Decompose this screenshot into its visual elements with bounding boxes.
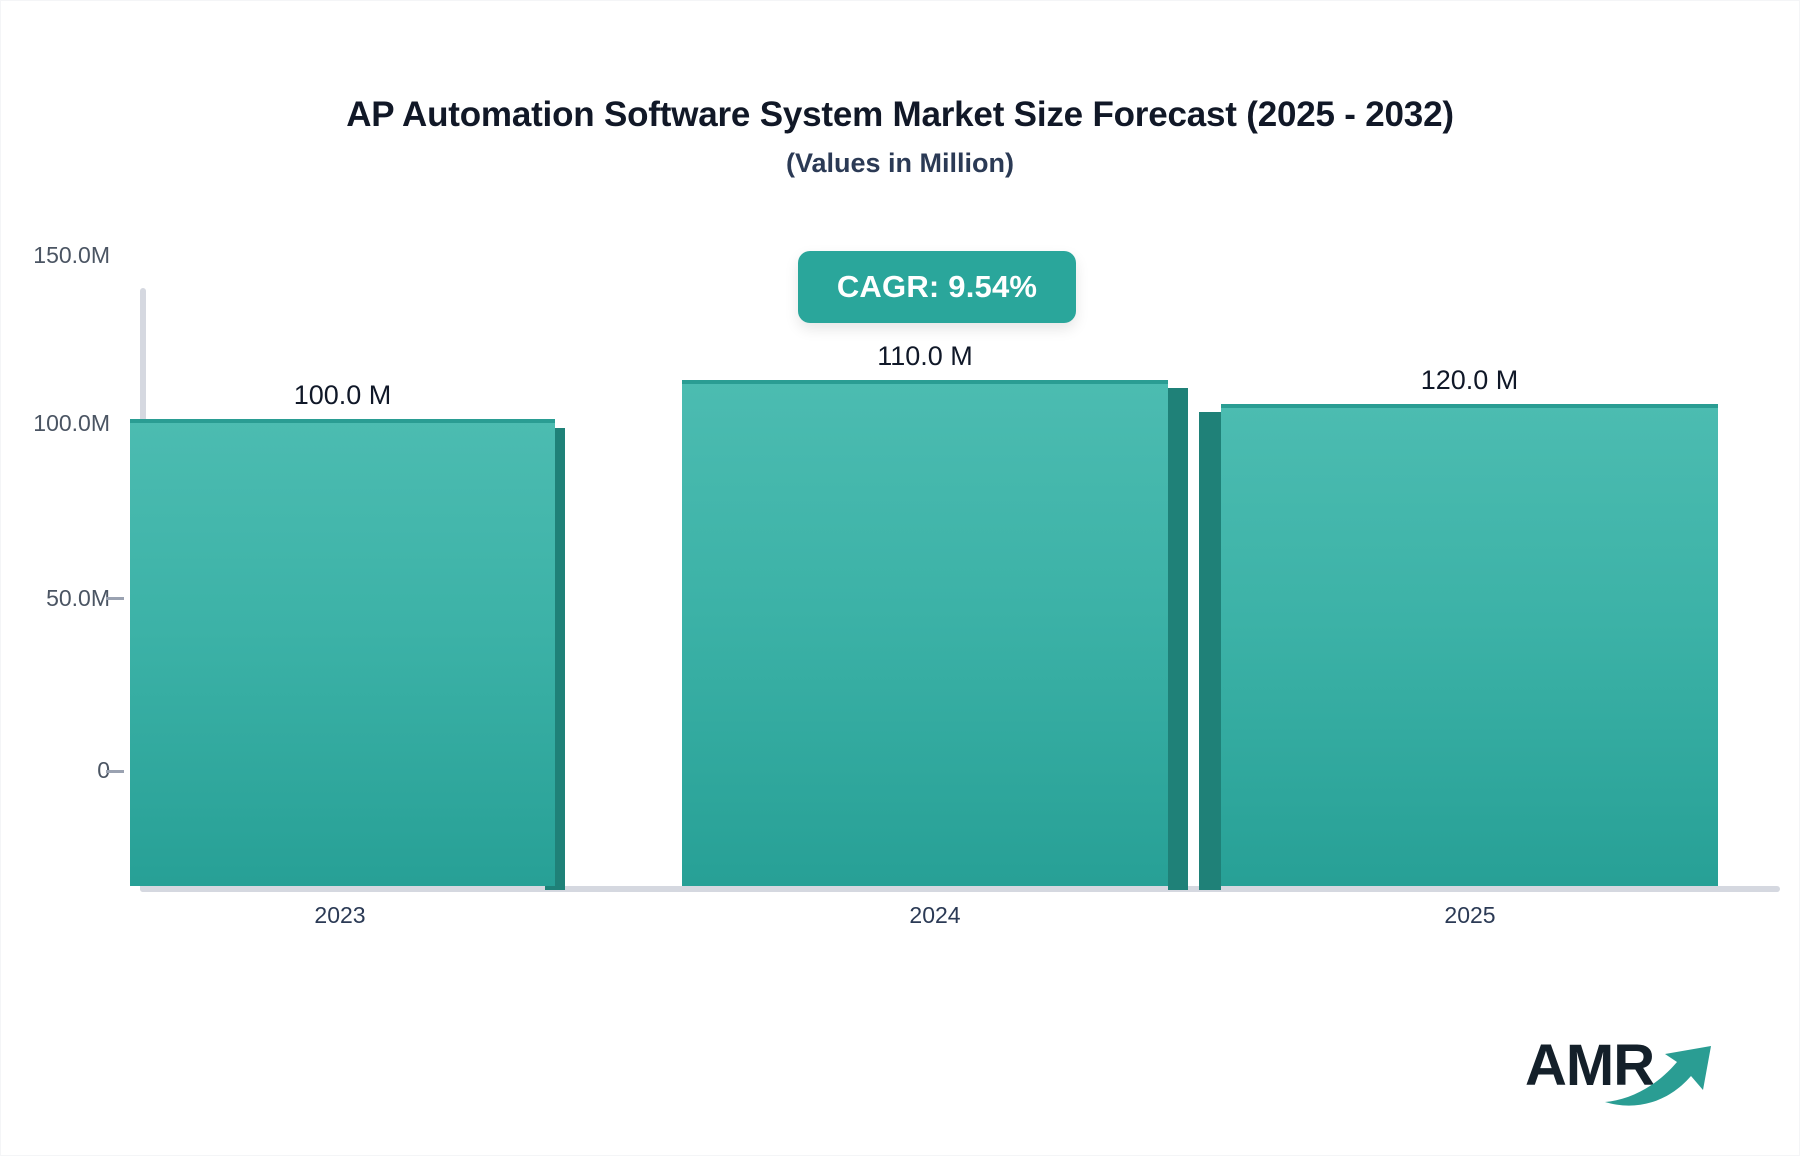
bar-2024-body: [682, 380, 1168, 886]
x-tick-label-2024: 2024: [825, 902, 1045, 929]
y-tick-dash-50: [106, 597, 124, 600]
bar-2023-body: [130, 419, 555, 886]
y-tick-label-150: 150.0M: [0, 242, 110, 269]
bar-2024-top-edge: [682, 380, 1168, 384]
bar-2024-side: [1168, 388, 1188, 890]
bar-value-2023: 100.0 M: [130, 380, 555, 411]
x-tick-label-2023: 2023: [230, 902, 450, 929]
y-tick-label-100: 100.0M: [0, 410, 110, 437]
trending-up-arrow-icon: [1603, 1040, 1723, 1115]
chart-canvas: AP Automation Software System Market Siz…: [0, 0, 1800, 1156]
y-tick-label-50: 50.0M: [0, 585, 110, 612]
bar-value-2025: 120.0 M: [1221, 365, 1718, 396]
bar-2025-top-edge: [1221, 404, 1718, 408]
bar-value-2024: 110.0 M: [682, 341, 1168, 372]
bar-2025-side: [1199, 412, 1221, 890]
x-tick-label-2025: 2025: [1360, 902, 1580, 929]
plot-area: 150.0M 100.0M 50.0M 0 100.0 M 110.0 M 12…: [0, 0, 1800, 1156]
amr-logo: AMR: [1525, 1030, 1725, 1110]
bar-2025-body: [1221, 404, 1718, 886]
y-tick-dash-0: [106, 770, 124, 773]
bar-2023-top-edge: [130, 419, 555, 423]
x-axis-line: [140, 886, 1780, 892]
y-tick-label-0: 0: [0, 757, 110, 784]
